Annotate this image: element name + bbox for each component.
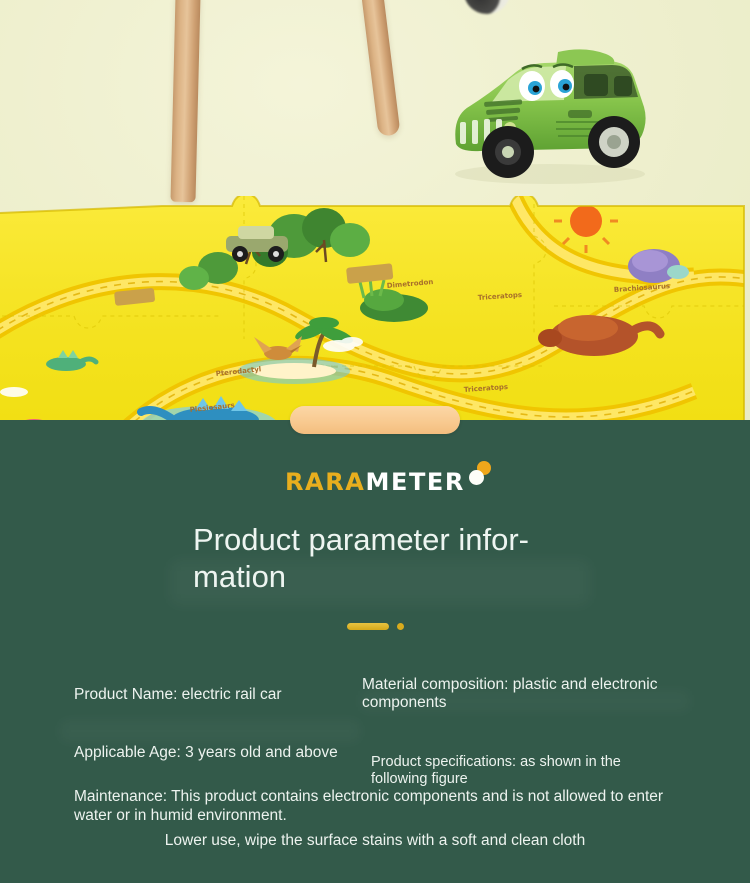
- spec-product-name: Product Name: electric rail car: [74, 686, 354, 704]
- white-dot-icon: [469, 470, 484, 485]
- divider-bar-icon: [347, 623, 389, 630]
- product-photo: Pterodactyl Plesiosaurs Dimetrodon Trice…: [0, 0, 750, 422]
- product-detail-page: Pterodactyl Plesiosaurs Dimetrodon Trice…: [0, 0, 750, 883]
- green-toy-car: [438, 36, 658, 186]
- maintenance-text-primary: Maintenance: This product contains elect…: [74, 787, 689, 825]
- dinosaur-puzzle-playmat: Pterodactyl Plesiosaurs Dimetrodon Trice…: [0, 196, 750, 422]
- divider-dot-icon: [397, 623, 404, 630]
- partial-wheel-icon: [464, 0, 510, 14]
- spec-applicable-age: Applicable Age: 3 years old and above: [74, 744, 344, 762]
- wooden-table-leg: [361, 0, 400, 137]
- divider: [0, 618, 750, 636]
- maintenance-text-secondary: Lower use, wipe the surface stains with …: [0, 831, 750, 850]
- logo-text-secondary: METER: [365, 468, 465, 496]
- spec-list: Product Name: electric rail car Material…: [0, 672, 750, 796]
- section-tab-pill[interactable]: [290, 406, 460, 434]
- logo-text-primary: RARA: [285, 468, 366, 496]
- parameter-logo: RARAMETER: [0, 470, 750, 495]
- wooden-table-leg: [170, 0, 200, 202]
- spec-material-composition: Material composition: plastic and electr…: [362, 676, 682, 712]
- spec-product-specifications: Product specifications: as shown in the …: [371, 754, 671, 788]
- page-title: Product parameter infor-mation: [193, 521, 593, 595]
- spec-row: Product Name: electric rail car Material…: [0, 672, 750, 734]
